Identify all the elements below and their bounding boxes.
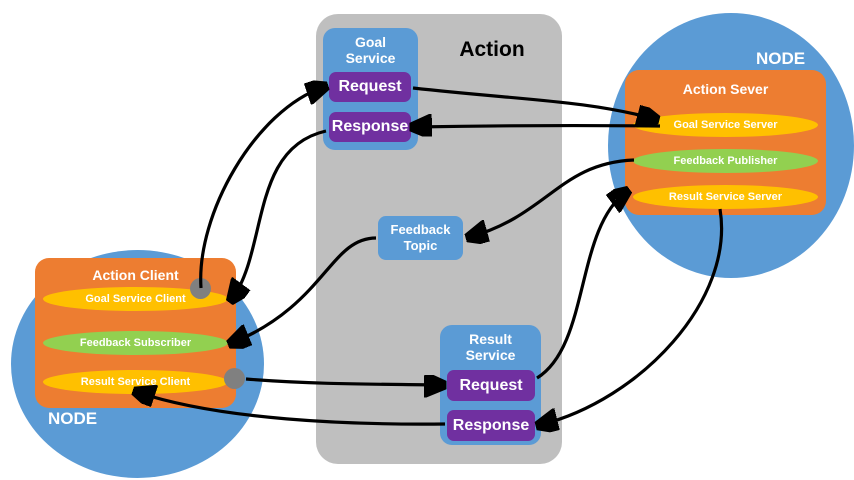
goal-service-title-line1: Goal (355, 34, 386, 50)
action-title: Action (432, 36, 552, 64)
result-service-client-ellipse[interactable]: Result Service Client (43, 370, 228, 394)
client-node-label: NODE (48, 408, 118, 430)
feedback-subscriber-ellipse[interactable]: Feedback Subscriber (43, 331, 228, 355)
goal-service-server-ellipse[interactable]: Goal Service Server (633, 113, 818, 137)
server-node-label: NODE (756, 48, 826, 70)
goal-service-request-box[interactable]: Request (329, 72, 411, 102)
result-client-connector-dot (224, 368, 245, 389)
diagram-canvas: Action Goal Service Request Response Res… (0, 0, 854, 480)
goal-service-title: Goal Service (323, 34, 418, 66)
feedback-publisher-ellipse[interactable]: Feedback Publisher (633, 149, 818, 173)
result-service-request-box[interactable]: Request (447, 370, 535, 401)
goal-service-title-line2: Service (346, 50, 396, 66)
result-service-title: Result Service (440, 331, 541, 363)
result-service-title-line2: Service (466, 347, 516, 363)
goal-client-connector-dot (190, 278, 211, 299)
arrow-goal-response-to-client (232, 131, 326, 299)
feedback-topic-line2: Topic (404, 238, 438, 253)
goal-service-response-box[interactable]: Response (329, 112, 411, 142)
action-server-title: Action Sever (625, 78, 826, 100)
feedback-topic-box[interactable]: Feedback Topic (378, 216, 463, 260)
result-service-title-line1: Result (469, 331, 512, 347)
result-service-server-ellipse[interactable]: Result Service Server (633, 185, 818, 209)
result-service-response-box[interactable]: Response (447, 410, 535, 441)
feedback-topic-line1: Feedback (391, 222, 451, 237)
